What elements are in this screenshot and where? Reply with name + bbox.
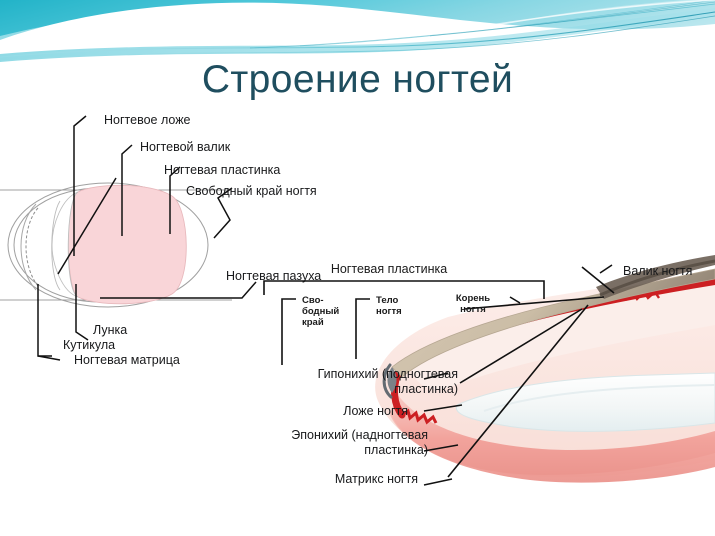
label-cuticle: Кутикула (63, 338, 115, 353)
label-nail-root-group: Корень ногтя (444, 293, 502, 315)
label-free-edge: Свободный край ногтя (186, 184, 317, 199)
label-nail-root-line1: Корень (444, 293, 502, 304)
label-hyponychium-line2: пластинка) (268, 382, 458, 397)
label-nail-fold: Ногтевой валик (140, 140, 230, 155)
label-eponychium: Эпонихий (надногтевая пластинка) (232, 428, 428, 458)
label-nail-body-line1: Тело (376, 295, 402, 306)
label-eponychium-line2: пластинка) (232, 443, 428, 458)
label-nail-root-line2: ногтя (444, 304, 502, 315)
page-title: Строение ногтей (0, 57, 715, 103)
label-nail-body-line2: ногтя (376, 306, 402, 317)
label-bracket-nail-plate: Ногтевая пластинка (289, 264, 489, 276)
slide-root: Строение ногтей (0, 0, 715, 536)
label-nail-plate: Ногтевая пластинка (164, 163, 280, 178)
label-bracket-nail-plate-text: Ногтевая пластинка (331, 262, 447, 276)
label-eponychium-line1: Эпонихий (надногтевая (232, 428, 428, 443)
cuticle-line (26, 208, 38, 286)
label-hyponychium-line1: Гипонихий (подногтевая (268, 367, 458, 382)
label-section-nail-bed: Ложе ногтя (268, 404, 408, 419)
label-free-edge-group: Сво- бодный край (302, 295, 339, 328)
label-nail-body-group: Тело ногтя (376, 295, 402, 317)
label-free-edge-line2: бодный (302, 306, 339, 317)
label-hyponychium: Гипонихий (подногтевая пластинка) (268, 367, 458, 397)
label-section-nail-fold: Валик ногтя (623, 264, 692, 279)
label-free-edge-line1: Сво- (302, 295, 339, 306)
label-free-edge-line3: край (302, 317, 339, 328)
label-nail-bed: Ногтевое ложе (104, 113, 191, 128)
label-nail-matrix: Ногтевая матрица (74, 353, 180, 368)
label-section-nail-matrix: Матрикс ногтя (268, 472, 418, 487)
label-lunula: Лунка (93, 323, 127, 338)
nail-plate-shape (68, 185, 186, 303)
